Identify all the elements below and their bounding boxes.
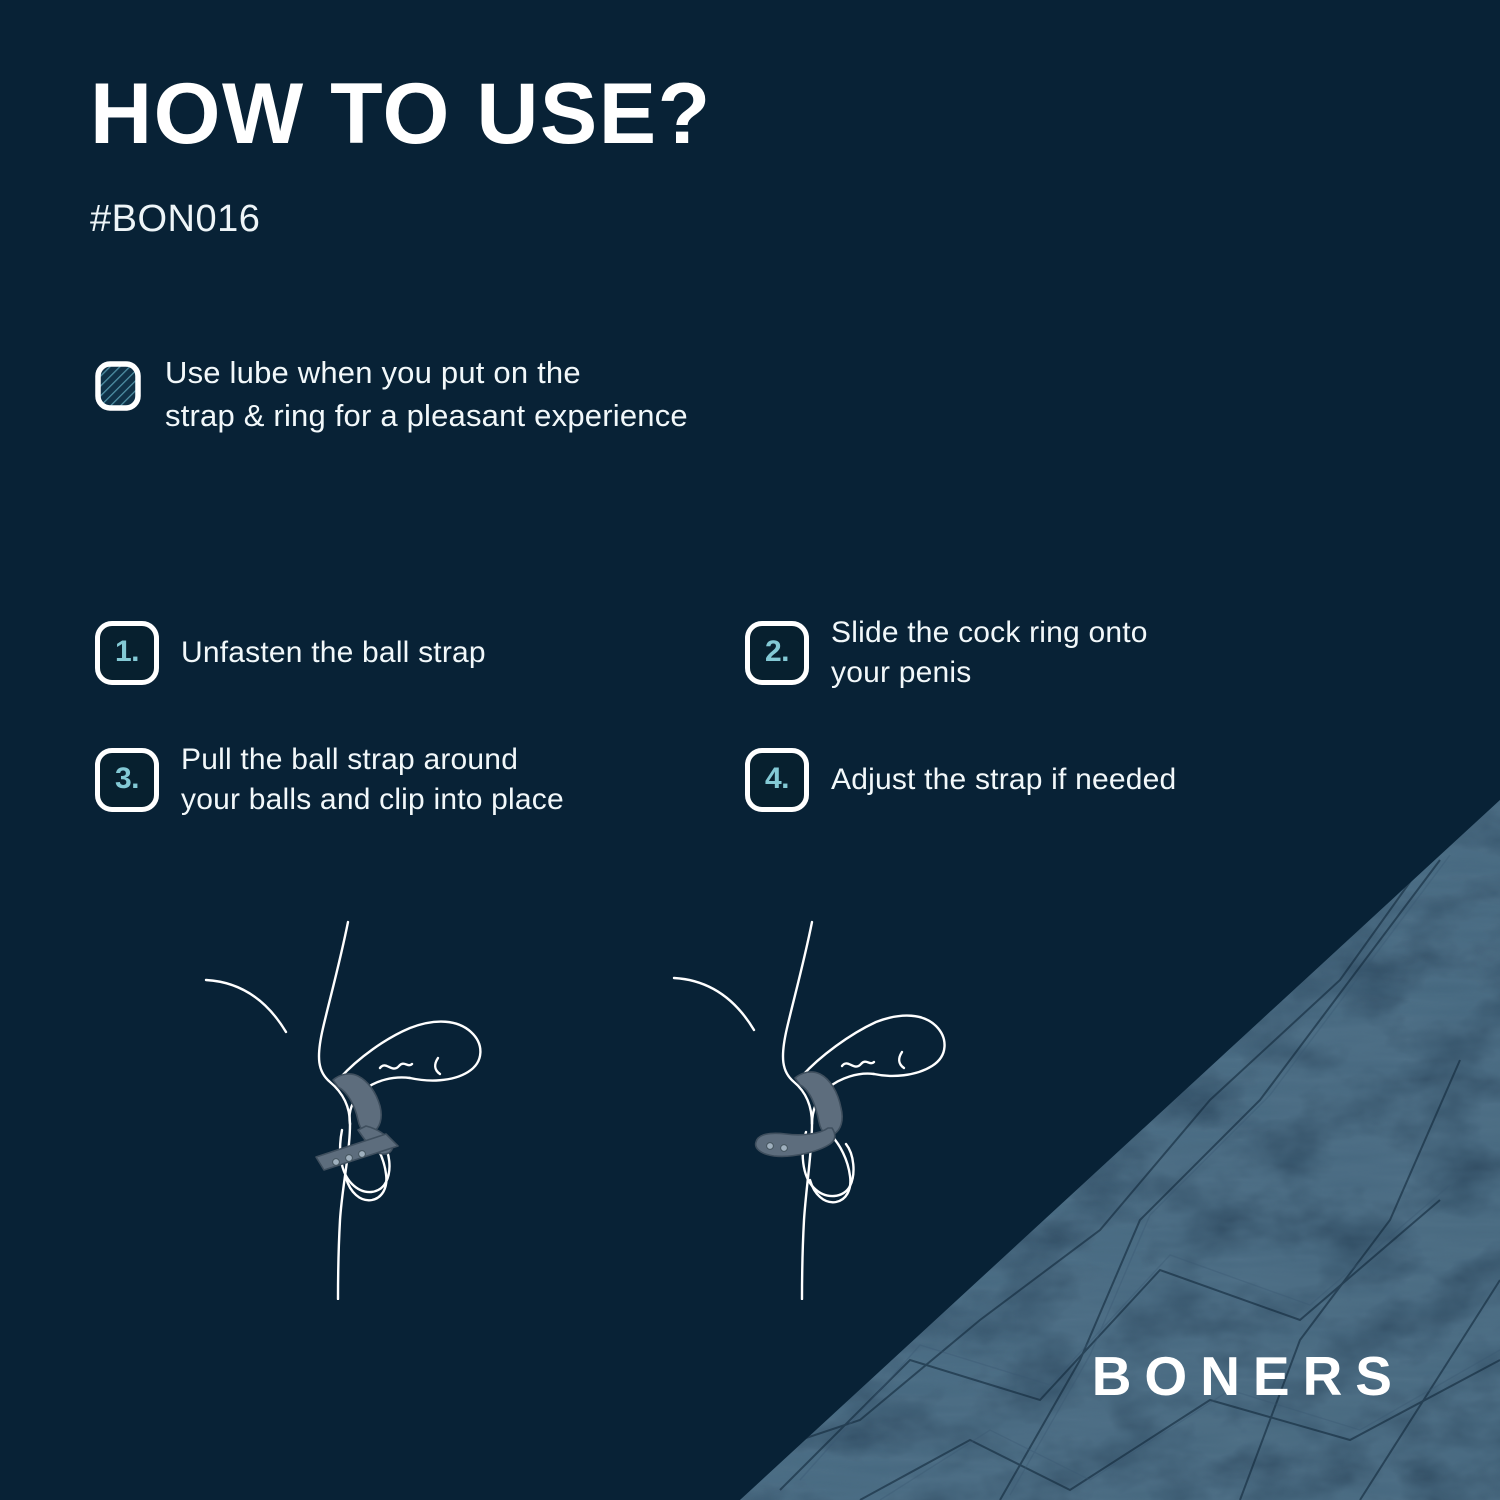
- step-1-line1: Unfasten the ball strap: [181, 636, 486, 669]
- step-3-number: 3.: [115, 764, 139, 794]
- step-4: 4. Adjust the strap if needed: [745, 740, 1355, 820]
- steps-list: 1. Unfasten the ball strap 2. Slide the …: [95, 565, 1355, 820]
- step-3-badge: 3.: [95, 748, 159, 812]
- lube-note-line2: strap & ring for a pleasant experience: [165, 398, 688, 433]
- step-1-number: 1.: [115, 637, 139, 667]
- lube-sachet-icon: [95, 361, 141, 411]
- step-4-line1: Adjust the strap if needed: [831, 763, 1176, 796]
- step-1: 1. Unfasten the ball strap: [95, 565, 745, 740]
- strap-unfastened-illustration: [190, 920, 550, 1300]
- step-4-text: Adjust the strap if needed: [831, 760, 1176, 800]
- lube-note-line1: Use lube when you put on the: [165, 355, 581, 390]
- lube-note-text: Use lube when you put on the strap & rin…: [165, 352, 688, 438]
- lube-note: Use lube when you put on the strap & rin…: [95, 352, 995, 438]
- brand-logo: BONERS: [1079, 1344, 1405, 1408]
- step-2-text: Slide the cock ring onto your penis: [831, 613, 1148, 693]
- step-3-line1: Pull the ball strap around: [181, 743, 518, 776]
- step-3-line2: your balls and clip into place: [181, 783, 564, 816]
- product-sku: #BON016: [90, 156, 1190, 241]
- step-2-line1: Slide the cock ring onto: [831, 616, 1148, 649]
- infographic-page: HOW TO USE? #BON016 Use lube when you pu…: [0, 0, 1500, 1500]
- strap-fastened-illustration: [660, 920, 1020, 1300]
- step-1-text: Unfasten the ball strap: [181, 633, 486, 673]
- step-2-number: 2.: [765, 637, 789, 667]
- step-4-number: 4.: [765, 764, 789, 794]
- page-title: HOW TO USE?: [90, 72, 1190, 156]
- step-3-text: Pull the ball strap around your balls an…: [181, 740, 564, 820]
- step-1-badge: 1.: [95, 621, 159, 685]
- step-4-badge: 4.: [745, 748, 809, 812]
- step-2-line2: your penis: [831, 656, 971, 689]
- illustrations: [190, 920, 1090, 1300]
- step-2-badge: 2.: [745, 621, 809, 685]
- header: HOW TO USE? #BON016: [90, 72, 1190, 241]
- step-3: 3. Pull the ball strap around your balls…: [95, 740, 745, 820]
- step-2: 2. Slide the cock ring onto your penis: [745, 565, 1355, 740]
